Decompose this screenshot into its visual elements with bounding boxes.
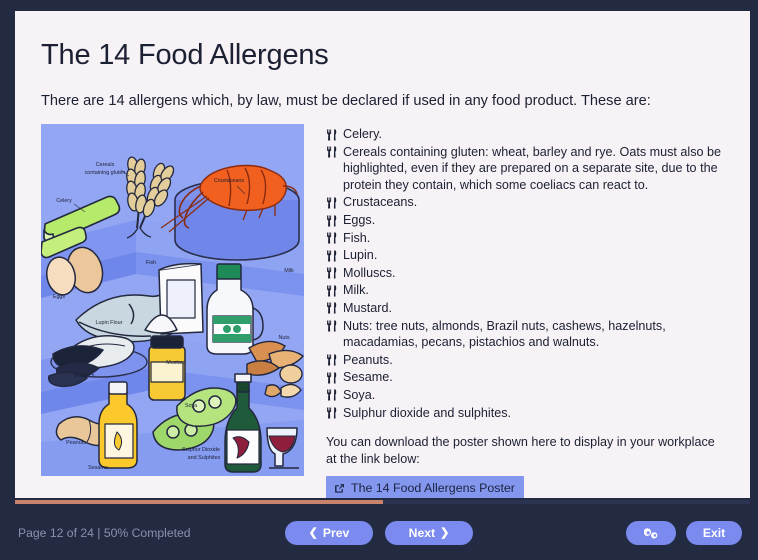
allergen-label: Sesame. xyxy=(343,370,393,384)
allergen-list-item: Molluscs. xyxy=(326,265,724,282)
allergen-label: Eggs. xyxy=(343,213,375,227)
allergen-list-item: Soya. xyxy=(326,387,724,404)
utensils-icon xyxy=(326,197,337,209)
allergen-label: Milk. xyxy=(343,283,369,297)
allergen-label: Cereals containing gluten: wheat, barley… xyxy=(343,145,721,192)
allergen-poster-image[interactable]: Cereals containing gluten Crustaceans Ce… xyxy=(41,124,304,476)
lead-paragraph: There are 14 allergens which, by law, mu… xyxy=(41,92,724,112)
slide-content: The 14 Food Allergens There are 14 aller… xyxy=(15,11,750,498)
utensils-icon xyxy=(326,320,337,332)
chevron-right-icon: ❯ xyxy=(440,528,449,539)
external-link-icon xyxy=(334,483,345,494)
utensils-icon xyxy=(326,372,337,384)
svg-text:Molluscs: Molluscs xyxy=(74,373,95,379)
allergen-label: Peanuts. xyxy=(343,353,393,367)
utensils-icon xyxy=(326,285,337,297)
content-row: Cereals containing gluten Crustaceans Ce… xyxy=(41,124,724,498)
allergen-label: Molluscs. xyxy=(343,266,395,280)
allergen-label: Fish. xyxy=(343,231,370,245)
utensils-icon xyxy=(326,215,337,227)
prev-button-label: Prev xyxy=(323,526,349,540)
allergen-list-item: Milk. xyxy=(326,282,724,299)
allergen-label: Soya. xyxy=(343,388,375,402)
svg-text:containing gluten: containing gluten xyxy=(85,170,126,176)
allergen-list-item: Celery. xyxy=(326,126,724,143)
svg-text:Crustaceans: Crustaceans xyxy=(214,178,245,184)
progress-bar-track xyxy=(15,500,750,504)
svg-text:Cereals: Cereals xyxy=(96,162,115,168)
allergen-list-item: Mustard. xyxy=(326,300,724,317)
chevron-left-icon: ❮ xyxy=(309,528,318,539)
svg-text:Peanuts: Peanuts xyxy=(66,440,86,446)
svg-text:Soya: Soya xyxy=(185,403,197,409)
utensils-icon xyxy=(326,146,337,158)
allergen-list-item: Peanuts. xyxy=(326,352,724,369)
svg-text:and Sulphites: and Sulphites xyxy=(188,455,221,461)
allergen-label: Nuts: tree nuts, almonds, Brazil nuts, c… xyxy=(343,319,666,350)
svg-text:Lupin Flour: Lupin Flour xyxy=(96,320,123,326)
utensils-icon xyxy=(326,302,337,314)
allergen-list-item: Nuts: tree nuts, almonds, Brazil nuts, c… xyxy=(326,318,724,351)
svg-text:Sesame: Sesame xyxy=(88,465,108,471)
allergen-list-item: Sulphur dioxide and sulphites. xyxy=(326,405,724,422)
utensils-icon xyxy=(326,389,337,401)
utensils-icon xyxy=(326,250,337,262)
allergen-list-item: Eggs. xyxy=(326,212,724,229)
exit-button[interactable]: Exit xyxy=(686,521,742,545)
utility-buttons: Exit xyxy=(626,521,742,545)
cogs-icon xyxy=(644,527,659,540)
allergen-list-item: Cereals containing gluten: wheat, barley… xyxy=(326,144,724,194)
allergen-list-item: Sesame. xyxy=(326,369,724,386)
prev-button[interactable]: ❮ Prev xyxy=(285,521,373,545)
allergen-list-column: Celery.Cereals containing gluten: wheat,… xyxy=(326,124,724,498)
svg-text:Fish: Fish xyxy=(146,260,156,266)
poster-download-link[interactable]: The 14 Food Allergens Poster xyxy=(326,476,524,498)
allergen-list-item: Lupin. xyxy=(326,247,724,264)
poster-link-label: The 14 Food Allergens Poster xyxy=(351,482,515,494)
svg-text:Milk: Milk xyxy=(284,268,294,274)
allergen-label: Sulphur dioxide and sulphites. xyxy=(343,406,511,420)
allergen-list-item: Fish. xyxy=(326,230,724,247)
svg-text:Sulphur Dioxide: Sulphur Dioxide xyxy=(182,447,220,453)
svg-text:Nuts: Nuts xyxy=(278,335,289,341)
download-note: You can download the poster shown here t… xyxy=(326,434,718,467)
page-title: The 14 Food Allergens xyxy=(41,39,724,72)
slide-card: The 14 Food Allergens There are 14 aller… xyxy=(15,11,750,498)
allergen-label: Crustaceans. xyxy=(343,195,417,209)
utensils-icon xyxy=(326,354,337,366)
exit-button-label: Exit xyxy=(703,526,725,540)
utensils-icon xyxy=(326,407,337,419)
allergen-list: Celery.Cereals containing gluten: wheat,… xyxy=(326,126,724,421)
allergen-list-item: Crustaceans. xyxy=(326,194,724,211)
course-player: The 14 Food Allergens There are 14 aller… xyxy=(0,0,758,560)
next-button[interactable]: Next ❯ xyxy=(385,521,473,545)
player-footer: Page 12 of 24 | 50% Completed ❮ Prev Nex… xyxy=(0,506,758,560)
allergen-label: Lupin. xyxy=(343,248,377,262)
poster-column: Cereals containing gluten Crustaceans Ce… xyxy=(41,124,304,476)
utensils-icon xyxy=(326,267,337,279)
allergen-label: Celery. xyxy=(343,127,382,141)
allergen-label: Mustard. xyxy=(343,301,392,315)
settings-button[interactable] xyxy=(626,521,676,545)
progress-bar-fill xyxy=(15,500,383,504)
svg-text:Mustard: Mustard xyxy=(166,360,185,366)
utensils-icon xyxy=(326,232,337,244)
utensils-icon xyxy=(326,129,337,141)
next-button-label: Next xyxy=(409,526,435,540)
svg-text:Celery: Celery xyxy=(56,198,72,204)
svg-text:Eggs: Eggs xyxy=(53,294,66,300)
